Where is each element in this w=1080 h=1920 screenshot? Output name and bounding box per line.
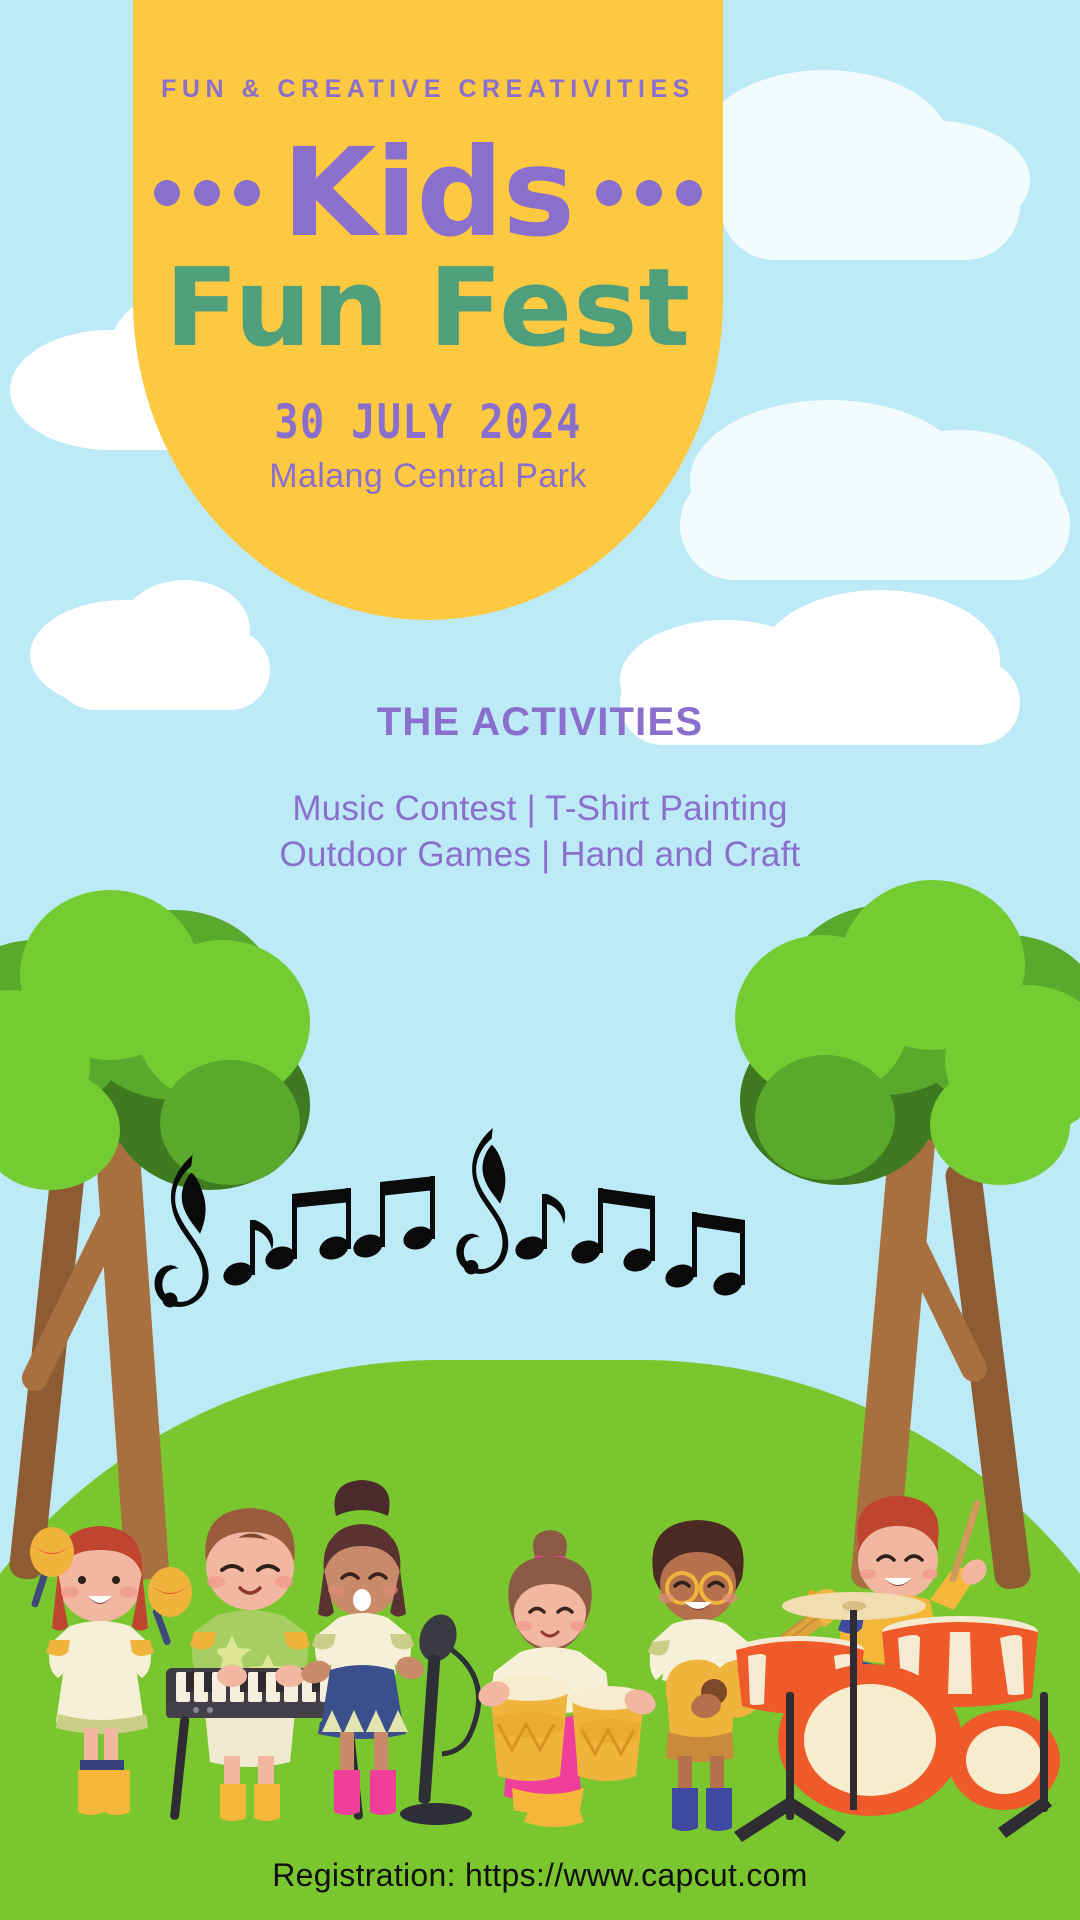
activities-section: THE ACTIVITIES Music Contest | T-Shirt P… [0,700,1080,875]
activities-heading: THE ACTIVITIES [0,700,1080,745]
activities-line-1: Music Contest | T-Shirt Painting [0,789,1080,829]
performer-girl-singer [299,1480,479,1825]
cloud-shape [720,150,1020,260]
performer-boy-drummer [734,1496,1060,1842]
maraca-icon [148,1567,192,1646]
title-funfest-text: Fun Fest [133,255,723,363]
event-date: 30 JULY 2024 [174,395,681,450]
tagline: FUN & CREATIVE CREATIVITIES [133,75,723,104]
header-banner: FUN & CREATIVE CREATIVITIES Kids Fun Fes… [133,0,723,620]
performer-girl-with-bongos [475,1530,659,1827]
title-line-kids: Kids [133,132,723,254]
cloud-shape [55,630,270,710]
dots-left-decoration [154,180,260,206]
dots-right-decoration [596,180,702,206]
cloud-shape [680,470,1070,580]
registration-text: Registration: https://www.capcut.com [0,1857,1080,1894]
drum-kit [734,1592,1060,1842]
poster-canvas: FUN & CREATIVE CREATIVITIES Kids Fun Fes… [0,0,1080,1920]
title-kids-text: Kids [282,132,574,254]
event-venue: Malang Central Park [133,457,723,496]
activities-line-2: Outdoor Games | Hand and Craft [0,835,1080,875]
kids-band-illustration [0,1240,1080,1860]
